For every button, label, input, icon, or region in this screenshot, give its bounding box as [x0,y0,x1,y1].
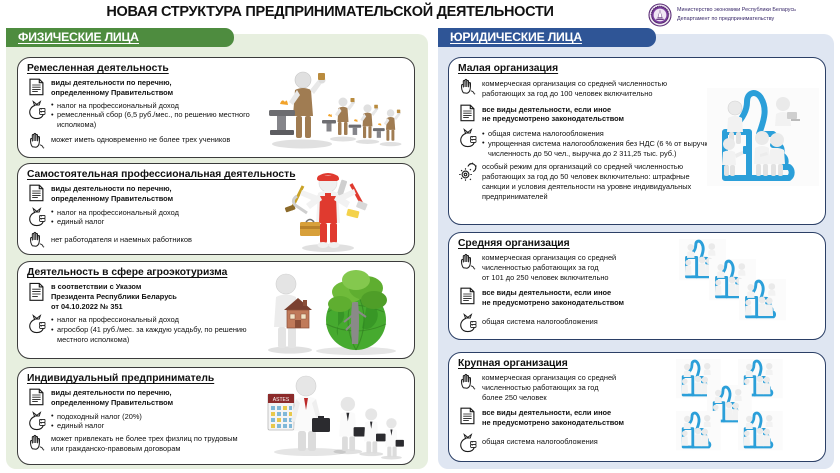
card-small-taxes-list: общая система налогообложения упрощенная… [482,128,714,158]
banner-legal-entities: ЮРИДИЧЕСКИЕ ЛИЦА [438,28,656,47]
card-agroecotourism: Деятельность в сфере агроэкотуризма в со… [17,261,415,359]
card-ie-taxes-list: подоходный налог (20%) единый налог [51,411,142,432]
card-self-taxes-list: налог на профессиональный доход единый н… [51,207,179,228]
three-thumbs-up-illustration [677,239,819,335]
hand-icon [26,131,48,151]
card-craft-activity: Ремесленная деятельность виды деятельнос… [17,57,415,158]
card-small-organization: Малая организация коммерческая организац… [448,57,826,225]
money-bag-icon [26,314,48,334]
card-craft-limit-text: может иметь одновременно не более трех у… [51,131,230,145]
hand-icon [26,230,48,250]
card-small-activities-text: все виды деятельности, если иное не пред… [482,103,624,125]
hand-icon [457,252,479,272]
money-bag-icon [26,411,48,431]
money-bag-icon [457,128,479,148]
card-self-professional: Самостоятельная профессиональная деятель… [17,163,415,255]
banner-individuals-label: ФИЗИЧЕСКИЕ ЛИЦА [18,31,139,45]
card-large-definition-text: коммерческая организация со средней числ… [482,372,616,402]
five-thumbs-up-illustration [674,359,822,459]
list-item: ремесленный сбор (6,5 руб./мес., по реше… [51,110,283,130]
money-bag-icon [26,100,48,120]
card-medium-taxation-text: общая система налогообложения [482,313,598,327]
card-large-organization: Крупная организация коммерческая организ… [448,352,826,462]
document-icon [26,281,48,301]
card-medium-organization: Средняя организация коммерческая организ… [448,232,826,340]
hand-icon [457,77,479,97]
money-bag-icon [457,313,479,333]
list-item: подоходный налог (20%) [51,412,142,422]
money-bag-icon [457,433,479,453]
list-item: налог на профессиональный доход [51,208,179,218]
document-icon [457,406,479,426]
document-icon [457,286,479,306]
single-thumbs-up-with-figures-illustration [707,88,819,186]
card-ie-hiring-text: может привлекать не более трех физлиц по… [51,433,238,454]
banner-individuals: ФИЗИЧЕСКИЕ ЛИЦА [6,28,234,47]
page-title: НОВАЯ СТРУКТУРА ПРЕДПРИНИМАТЕЛЬСКОЙ ДЕЯТ… [0,4,660,20]
card-agro-taxes-list: налог на профессиональный доход агросбор… [51,314,273,344]
card-large-activities-text: все виды деятельности, если иное не пред… [482,406,624,428]
list-item: налог на профессиональный доход [51,101,283,111]
ministry-seal-icon [648,3,672,27]
document-icon [457,103,479,123]
list-item: общая система налогообложения [482,129,714,139]
card-individual-entrepreneur: Индивидуальный предприниматель виды деят… [17,367,415,465]
hand-icon [26,433,48,453]
card-small-organization-title: Малая организация [458,63,825,74]
hand-icon [457,372,479,392]
svg-text:ASTES: ASTES [273,397,290,403]
card-craft-activities-text: виды деятельности по перечню, определенн… [51,77,173,98]
handyman-multitool-illustration [273,166,383,254]
card-medium-definition-text: коммерческая организация со средней числ… [482,252,616,282]
card-medium-activities-text: все виды деятельности, если иное не пред… [482,286,624,308]
ministry-logo: Министерство экономики Республики Белару… [648,2,840,28]
card-self-activities-text: виды деятельности по перечню, определенн… [51,183,173,204]
list-item: единый налог [51,421,142,431]
card-agro-decree-text: в соответствии с Указом Президента Респу… [51,281,177,311]
card-small-special-regime-text: особый режим для организаций со средней … [482,161,691,201]
document-icon [26,387,48,407]
list-item: упрощенная система налогообложения без Н… [482,139,714,159]
ministry-name-line2: Департамент по предпринимательству [677,15,796,24]
house-and-green-globe-illustration [256,268,411,356]
card-small-definition-text: коммерческая организация со средней числ… [482,77,667,99]
card-large-taxation-text: общая система налогообложения [482,433,598,447]
list-item: агросбор (41 руб./мес. за каждую усадьбу… [51,325,273,345]
card-craft-taxes-list: налог на профессиональный доход ремеслен… [51,100,283,130]
infographic-page: НОВАЯ СТРУКТУРА ПРЕДПРИНИМАТЕЛЬСКОЙ ДЕЯТ… [0,0,840,473]
banner-legal-entities-label: ЮРИДИЧЕСКИЕ ЛИЦА [450,31,582,45]
gear-icon [457,161,479,181]
list-item: единый налог [51,217,179,227]
document-icon [26,77,48,97]
craftsman-with-apprentices-illustration [256,66,411,154]
ministry-name-line1: Министерство экономики Республики Белару… [677,6,796,15]
businessmen-with-briefcases-illustration: ASTES [260,372,412,460]
list-item: налог на профессиональный доход [51,315,273,325]
card-self-noemployer-text: нет работодателя и наемных работников [51,230,192,245]
card-ie-activities-text: виды деятельности по перечню, определенн… [51,387,173,408]
money-bag-icon [26,207,48,227]
document-icon [26,183,48,203]
